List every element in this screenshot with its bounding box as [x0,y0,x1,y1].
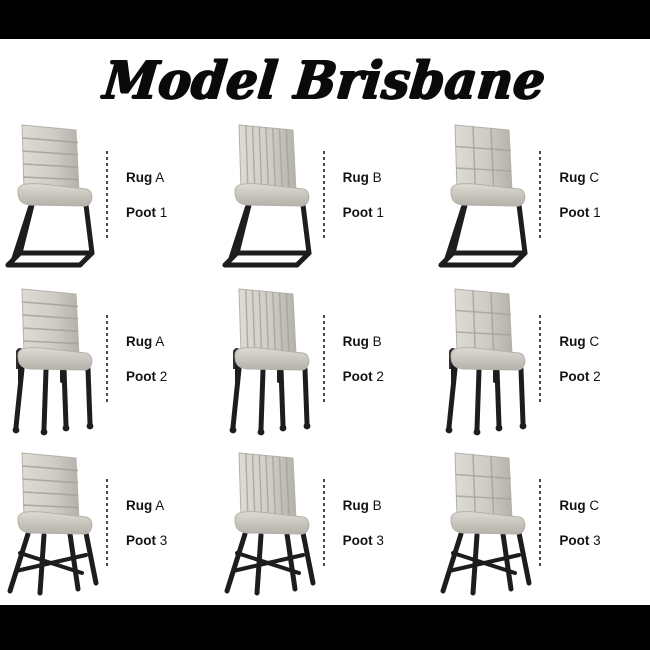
rug-key: Rug [126,498,152,513]
letterbox-bar-bottom [0,605,650,650]
rug-value: B [373,334,382,349]
chair-illustration [0,441,104,605]
poot-label: Poot 2 [343,370,434,384]
rug-value: B [373,498,382,513]
product-variant-sheet: Model Brisbane Rug A [0,0,650,650]
variant-cell[interactable]: Rug C Poot 3 [433,441,650,605]
chair-illustration [433,277,537,441]
chair-image-A2 [0,277,104,441]
variant-labels: Rug B Poot 3 [325,499,434,548]
rug-key: Rug [126,334,152,349]
poot-label: Poot 1 [126,206,217,220]
poot-label: Poot 2 [126,370,217,384]
poot-key: Poot [559,205,589,220]
rug-value: B [373,170,382,185]
poot-value: 3 [160,533,168,548]
rug-key: Rug [343,170,369,185]
rug-label: Rug C [559,499,650,513]
chair-image-C2 [433,277,537,441]
rug-key: Rug [559,334,585,349]
rug-value: A [155,334,164,349]
chair-illustration [217,441,321,605]
rug-value: A [155,498,164,513]
variant-labels: Rug A Poot 3 [108,499,217,548]
variant-labels: Rug C Poot 3 [541,499,650,548]
poot-label: Poot 3 [343,534,434,548]
rug-key: Rug [559,498,585,513]
variant-cell[interactable]: Rug A Poot 1 [0,113,217,277]
variant-labels: Rug B Poot 1 [325,171,434,220]
rug-label: Rug B [343,335,434,349]
rug-value: C [589,334,599,349]
variant-labels: Rug A Poot 1 [108,171,217,220]
variant-cell[interactable]: Rug B Poot 3 [217,441,434,605]
poot-key: Poot [559,533,589,548]
poot-value: 1 [593,205,601,220]
variant-cell[interactable]: Rug A Poot 2 [0,277,217,441]
page-title: Model Brisbane [0,44,650,116]
chair-illustration [433,113,537,277]
poot-label: Poot 3 [126,534,217,548]
rug-key: Rug [559,170,585,185]
letterbox-bar-top [0,0,650,39]
poot-key: Poot [126,369,156,384]
chair-image-C1 [433,113,537,277]
variant-cell[interactable]: Rug C Poot 1 [433,113,650,277]
rug-key: Rug [126,170,152,185]
poot-value: 1 [376,205,384,220]
rug-key: Rug [343,498,369,513]
rug-value: C [589,498,599,513]
rug-label: Rug A [126,499,217,513]
rug-value: A [155,170,164,185]
rug-label: Rug B [343,499,434,513]
poot-key: Poot [559,369,589,384]
chair-illustration [433,441,537,605]
rug-label: Rug B [343,171,434,185]
chair-image-B2 [217,277,321,441]
poot-value: 3 [593,533,601,548]
poot-value: 2 [376,369,384,384]
poot-label: Poot 1 [559,206,650,220]
poot-key: Poot [343,533,373,548]
poot-key: Poot [343,205,373,220]
poot-value: 1 [160,205,168,220]
variant-cell[interactable]: Rug B Poot 2 [217,277,434,441]
poot-label: Poot 1 [343,206,434,220]
poot-value: 2 [160,369,168,384]
variant-labels: Rug A Poot 2 [108,335,217,384]
poot-value: 2 [593,369,601,384]
variant-cell[interactable]: Rug A Poot 3 [0,441,217,605]
poot-label: Poot 2 [559,370,650,384]
rug-label: Rug C [559,171,650,185]
poot-key: Poot [343,369,373,384]
variant-grid: Rug A Poot 1 Rug [0,113,650,605]
rug-label: Rug C [559,335,650,349]
chair-illustration [217,113,321,277]
variant-cell[interactable]: Rug C Poot 2 [433,277,650,441]
poot-key: Poot [126,533,156,548]
variant-labels: Rug C Poot 2 [541,335,650,384]
chair-image-C3 [433,441,537,605]
variant-cell[interactable]: Rug B Poot 1 [217,113,434,277]
variant-labels: Rug C Poot 1 [541,171,650,220]
rug-key: Rug [343,334,369,349]
rug-label: Rug A [126,171,217,185]
rug-value: C [589,170,599,185]
poot-key: Poot [126,205,156,220]
variant-labels: Rug B Poot 2 [325,335,434,384]
chair-image-A1 [0,113,104,277]
chair-image-B1 [217,113,321,277]
poot-label: Poot 3 [559,534,650,548]
page-title-text: Model Brisbane [101,49,549,110]
chair-image-A3 [0,441,104,605]
chair-image-B3 [217,441,321,605]
rug-label: Rug A [126,335,217,349]
chair-illustration [0,113,104,277]
chair-illustration [0,277,104,441]
chair-illustration [217,277,321,441]
poot-value: 3 [376,533,384,548]
